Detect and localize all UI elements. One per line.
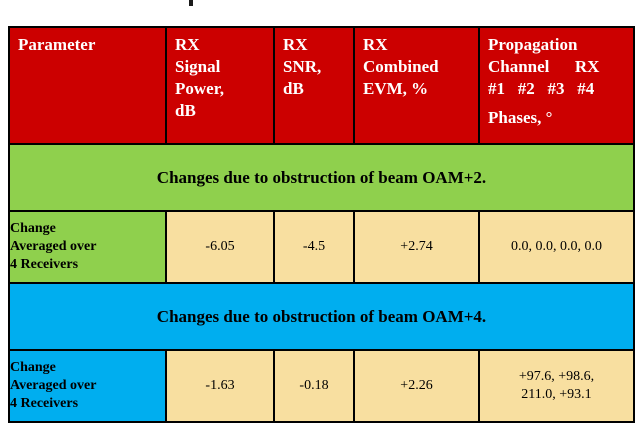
table-header-row: Parameter RX Signal Power, dB RX SNR, bbox=[9, 27, 634, 144]
table-container: Parameter RX Signal Power, dB RX SNR, bbox=[8, 26, 633, 423]
row-label-oam4: Change Averaged over 4 Receivers bbox=[9, 350, 166, 422]
header-cell-parameter: Parameter bbox=[9, 27, 166, 144]
header-rx-signal-power-line3: Power, bbox=[175, 78, 273, 100]
header-phases-line4: Phases, ° bbox=[488, 107, 633, 129]
row-label-oam2-line1: Change bbox=[10, 220, 165, 238]
cell-oam4-rx-combined-evm: +2.26 bbox=[354, 350, 479, 422]
header-cell-propagation-channel-phases: Propagation Channel RX #1 #2 #3 #4 Phase… bbox=[479, 27, 634, 144]
header-cell-rx-signal-power: RX Signal Power, dB bbox=[166, 27, 274, 144]
header-rx-snr-line2: SNR, bbox=[283, 56, 353, 78]
section-banner-oam4: Changes due to obstruction of beam OAM+4… bbox=[9, 283, 634, 350]
header-rx-signal-power-line2: Signal bbox=[175, 56, 273, 78]
cell-oam2-phases-line1: 0.0, 0.0, 0.0, 0.0 bbox=[480, 238, 633, 256]
header-rx-snr-line1: RX bbox=[283, 34, 353, 56]
cell-oam2-rx-signal-power: -6.05 bbox=[166, 211, 274, 283]
row-label-oam4-line3: 4 Receivers bbox=[10, 395, 165, 413]
section-banner-oam2: Changes due to obstruction of beam OAM+2… bbox=[9, 144, 634, 211]
table-row-oam4: Change Averaged over 4 Receivers -1.63 -… bbox=[9, 350, 634, 422]
cell-oam2-phases: 0.0, 0.0, 0.0, 0.0 bbox=[479, 211, 634, 283]
cell-oam4-phases-line2: 211.0, +93.1 bbox=[480, 386, 633, 404]
cell-oam4-rx-snr: -0.18 bbox=[274, 350, 354, 422]
header-rx-signal-power-line4: dB bbox=[175, 100, 273, 122]
header-phases-line2: Channel RX bbox=[488, 56, 633, 78]
row-label-oam4-line2: Averaged over bbox=[10, 377, 165, 395]
header-rx-signal-power-line1: RX bbox=[175, 34, 273, 56]
cutoff-caption-fragment bbox=[189, 0, 193, 6]
header-parameter-label: Parameter bbox=[18, 34, 165, 56]
header-cell-rx-combined-evm: RX Combined EVM, % bbox=[354, 27, 479, 144]
row-label-oam2-line2: Averaged over bbox=[10, 238, 165, 256]
section-banner-row-oam4: Changes due to obstruction of beam OAM+4… bbox=[9, 283, 634, 350]
table-row-oam2: Change Averaged over 4 Receivers -6.05 -… bbox=[9, 211, 634, 283]
row-label-oam2: Change Averaged over 4 Receivers bbox=[9, 211, 166, 283]
cell-oam4-phases-line1: +97.6, +98.6, bbox=[480, 368, 633, 386]
header-cell-rx-snr: RX SNR, dB bbox=[274, 27, 354, 144]
row-label-oam4-line1: Change bbox=[10, 359, 165, 377]
header-rx-combined-evm-line3: EVM, % bbox=[363, 78, 478, 100]
header-rx-combined-evm-line2: Combined bbox=[363, 56, 478, 78]
header-phases-spacer bbox=[488, 100, 633, 107]
cell-oam4-phases: +97.6, +98.6, 211.0, +93.1 bbox=[479, 350, 634, 422]
header-rx-combined-evm-line1: RX bbox=[363, 34, 478, 56]
header-phases-line3: #1 #2 #3 #4 bbox=[488, 78, 633, 100]
header-phases-line1: Propagation bbox=[488, 34, 633, 56]
header-rx-snr-line3: dB bbox=[283, 78, 353, 100]
row-label-oam2-line3: 4 Receivers bbox=[10, 256, 165, 274]
cell-oam4-rx-signal-power: -1.63 bbox=[166, 350, 274, 422]
section-banner-row-oam2: Changes due to obstruction of beam OAM+2… bbox=[9, 144, 634, 211]
obstruction-results-table: Parameter RX Signal Power, dB RX SNR, bbox=[8, 26, 635, 423]
cell-oam2-rx-snr: -4.5 bbox=[274, 211, 354, 283]
cell-oam2-rx-combined-evm: +2.74 bbox=[354, 211, 479, 283]
